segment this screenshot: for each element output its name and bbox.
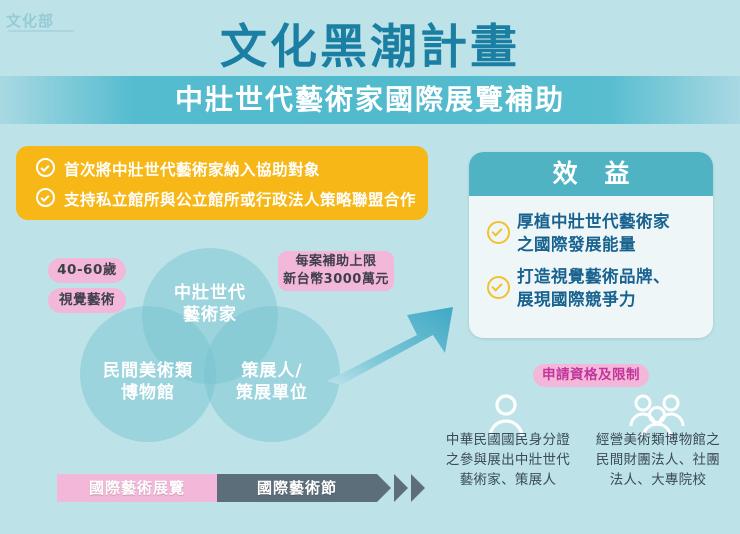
flow-stage-festival-label: 國際藝術節 bbox=[217, 474, 377, 502]
tag-age-range: 40-60歲 bbox=[48, 258, 126, 283]
benefit-item-label: 厚植中壯世代藝術家之國際發展能量 bbox=[517, 210, 670, 256]
check-circle-icon bbox=[487, 221, 510, 244]
highlight-item-label: 支持私立館所與公立館所或行政法人策略聯盟合作 bbox=[64, 191, 416, 209]
check-circle-icon bbox=[36, 158, 55, 177]
benefit-item: 厚植中壯世代藝術家之國際發展能量 bbox=[487, 210, 699, 256]
check-circle-icon bbox=[487, 276, 510, 299]
flow-stage-exhibition-label: 國際藝術展覽 bbox=[57, 474, 217, 502]
tag-art-field: 視覺藝術 bbox=[48, 288, 126, 313]
double-chevron-right-icon bbox=[377, 474, 435, 502]
benefit-item: 打造視覺藝術品牌、展現國際競爭力 bbox=[487, 265, 699, 311]
page-subtitle: 中壯世代藝術家國際展覽補助 bbox=[0, 76, 740, 124]
highlight-item: 支持私立館所與公立館所或行政法人策略聯盟合作 bbox=[36, 188, 416, 210]
arrow-to-benefits-icon bbox=[325, 295, 465, 387]
tag-subsidy-cap: 每案補助上限新台幣3000萬元 bbox=[278, 251, 394, 291]
highlights-box: 首次將中壯世代藝術家納入協助對象 支持私立館所與公立館所或行政法人策略聯盟合作 bbox=[16, 146, 428, 220]
benefit-item-label: 打造視覺藝術品牌、展現國際競爭力 bbox=[517, 265, 670, 311]
benefits-panel: 效 益 厚植中壯世代藝術家之國際發展能量 打造視覺藝術品牌、展現國際競爭力 bbox=[469, 152, 713, 338]
highlight-item: 首次將中壯世代藝術家納入協助對象 bbox=[36, 158, 320, 180]
infographic-canvas: 文化部 文化黑潮計畫 中壯世代藝術家國際展覽補助 首次將中壯世代藝術家納入協助對… bbox=[0, 0, 740, 534]
venn-label-curators: 策展人/策展單位 bbox=[212, 360, 332, 404]
eligibility-caption-individual: 中華民國國民身分證之參與展出中壯世代藝術家、策展人 bbox=[434, 430, 582, 490]
venn-label-museums: 民間美術類博物館 bbox=[86, 360, 210, 404]
tag-qualification-heading: 申請資格及限制 bbox=[533, 364, 649, 387]
highlight-item-label: 首次將中壯世代藝術家納入協助對象 bbox=[64, 161, 320, 179]
page-title: 文化黑潮計畫 bbox=[0, 8, 740, 77]
benefits-heading: 效 益 bbox=[469, 152, 713, 196]
eligibility-caption-organization: 經營美術類博物館之民間財團法人、社團法人、大專院校 bbox=[582, 430, 734, 490]
venn-label-artists: 中壯世代藝術家 bbox=[150, 282, 270, 326]
check-circle-icon bbox=[36, 188, 55, 207]
